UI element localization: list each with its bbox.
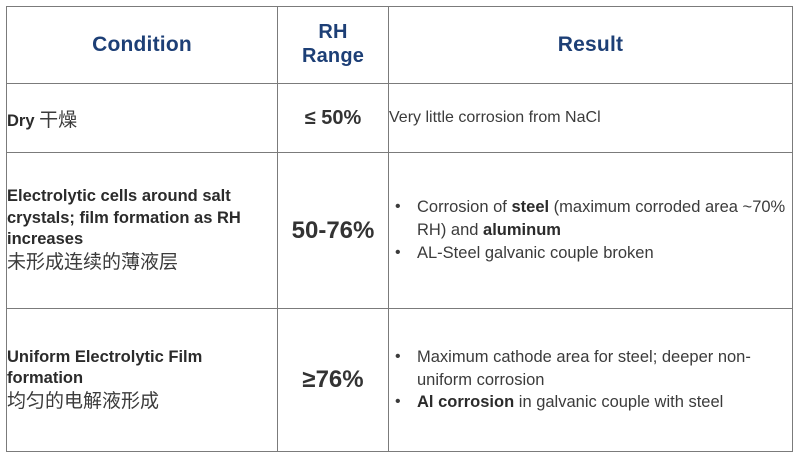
header-row: Condition RH Range Result xyxy=(7,7,793,84)
result-text-dry: Very little corrosion from NaCl xyxy=(389,109,601,126)
condition-electrolytic-cells-zh: 未形成连续的薄液层 xyxy=(7,251,277,275)
cell-result-electrolytic-cells: •Corrosion of steel (maximum corroded ar… xyxy=(389,153,793,309)
column-header-result: Result xyxy=(389,7,793,84)
result-bullet-item: •AL-Steel galvanic couple broken xyxy=(389,242,792,265)
condition-dry-zh: 干燥 xyxy=(39,109,77,131)
table-header: Condition RH Range Result xyxy=(7,7,793,84)
rh-value-dry: ≤ 50% xyxy=(305,107,362,129)
table-row: Uniform Electrolytic Film formation 均匀的电… xyxy=(7,309,793,452)
bullet-icon: • xyxy=(395,346,401,368)
cell-rh-dry: ≤ 50% xyxy=(278,84,389,153)
result-bullet-item: •Al corrosion in galvanic couple with st… xyxy=(389,391,792,414)
condition-dry-text: Dry 干燥 xyxy=(7,112,77,130)
cell-condition-dry: Dry 干燥 xyxy=(7,84,278,153)
table-row: Dry 干燥 ≤ 50% Very little corrosion from … xyxy=(7,84,793,153)
condition-uniform-film-en: Uniform Electrolytic Film formation xyxy=(7,347,277,390)
bullet-icon: • xyxy=(395,242,401,264)
column-header-condition: Condition xyxy=(7,7,278,84)
column-header-rh-line2: Range xyxy=(302,45,364,67)
column-header-rh-range: RH Range xyxy=(278,7,389,84)
bullet-text: Corrosion of xyxy=(417,198,511,216)
rh-condition-result-table: Condition RH Range Result Dry 干燥 ≤ 50% V… xyxy=(6,6,793,452)
bullet-emphasis-text: aluminum xyxy=(483,221,561,239)
slide-canvas: Condition RH Range Result Dry 干燥 ≤ 50% V… xyxy=(0,0,800,457)
result-bullet-list-electrolytic-cells: •Corrosion of steel (maximum corroded ar… xyxy=(389,196,792,264)
bullet-icon: • xyxy=(395,391,401,413)
bullet-icon: • xyxy=(395,196,401,218)
cell-result-uniform-film: •Maximum cathode area for steel; deeper … xyxy=(389,309,793,452)
result-bullet-list-uniform-film: •Maximum cathode area for steel; deeper … xyxy=(389,346,792,414)
bullet-emphasis-text: Al corrosion xyxy=(417,393,514,411)
bullet-emphasis-text: steel xyxy=(511,198,549,216)
rh-value-electrolytic-cells: 50-76% xyxy=(292,217,375,244)
result-bullet-item: •Corrosion of steel (maximum corroded ar… xyxy=(389,196,792,242)
bullet-text: in galvanic couple with steel xyxy=(514,393,723,411)
column-header-rh-line1: RH xyxy=(318,21,347,43)
cell-rh-uniform-film: ≥76% xyxy=(278,309,389,452)
cell-condition-uniform-film: Uniform Electrolytic Film formation 均匀的电… xyxy=(7,309,278,452)
bullet-text: Maximum cathode area for steel; deeper n… xyxy=(417,348,751,389)
cell-condition-electrolytic-cells: Electrolytic cells around salt crystals;… xyxy=(7,153,278,309)
rh-value-uniform-film: ≥76% xyxy=(302,366,363,393)
cell-rh-electrolytic-cells: 50-76% xyxy=(278,153,389,309)
condition-electrolytic-cells-en: Electrolytic cells around salt crystals;… xyxy=(7,186,277,250)
condition-dry-en: Dry xyxy=(7,112,35,130)
table-body: Dry 干燥 ≤ 50% Very little corrosion from … xyxy=(7,84,793,452)
condition-uniform-film-zh: 均匀的电解液形成 xyxy=(7,390,277,414)
table-row: Electrolytic cells around salt crystals;… xyxy=(7,153,793,309)
cell-result-dry: Very little corrosion from NaCl xyxy=(389,84,793,153)
bullet-text: AL-Steel galvanic couple broken xyxy=(417,244,654,262)
result-bullet-item: •Maximum cathode area for steel; deeper … xyxy=(389,346,792,392)
